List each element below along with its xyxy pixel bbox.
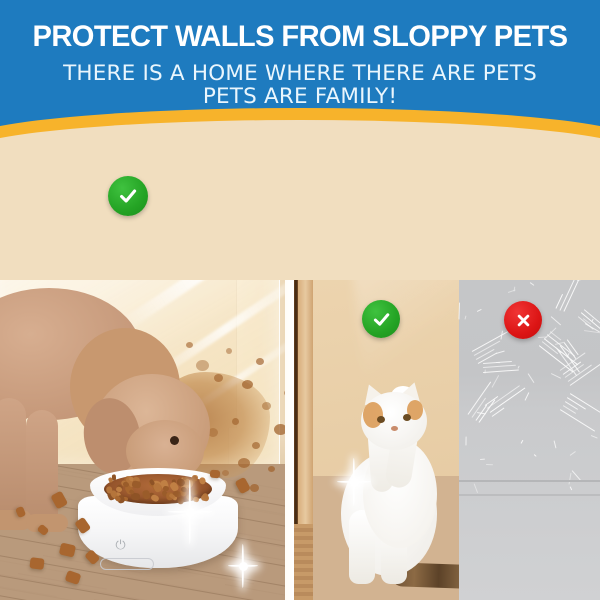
splatter-drop: [238, 458, 250, 468]
scratch-fleck: [474, 484, 479, 494]
kibble-piece: [162, 486, 168, 491]
kibble-piece: [177, 496, 184, 504]
grey-floor-line-2: [459, 494, 600, 496]
scratch-fleck: [525, 392, 530, 401]
bowl-front-slot: [100, 558, 154, 570]
status-badge-protected-right: [362, 300, 400, 338]
scratch-fleck: [500, 331, 503, 340]
splatter-drop: [226, 348, 232, 354]
splatter-drop: [214, 374, 223, 382]
kibble-piece: [190, 488, 198, 496]
scratch-fleck: [592, 318, 594, 321]
claw-scratch: [483, 369, 519, 373]
cat-illustration: [329, 378, 479, 588]
cat-marking-left: [363, 402, 383, 428]
scratch-fleck: [465, 315, 467, 320]
scratch-fleck: [551, 316, 562, 325]
kibble-piece: [107, 477, 113, 483]
claw-scratch: [560, 409, 595, 432]
power-icon: ⏻: [114, 538, 127, 551]
scratch-fleck: [521, 440, 524, 444]
cat-eye-right: [403, 414, 411, 421]
claw-scratch: [483, 365, 516, 369]
door-frame-base: [294, 524, 313, 600]
scratch-fleck: [496, 362, 500, 363]
splatter-drop: [268, 466, 275, 472]
splatter-drop: [262, 402, 271, 410]
scratch-fleck: [486, 464, 493, 465]
kibble-on-floor: [210, 470, 221, 479]
subtitle-line-1: THERE IS A HOME WHERE THERE ARE PETS: [63, 61, 537, 86]
scratch-fleck: [496, 350, 505, 354]
dog-leg-front-1: [0, 398, 26, 518]
scratch-fleck: [491, 375, 499, 388]
page-subtitle: THERE IS A HOME WHERE THERE ARE PETS PET…: [0, 62, 600, 108]
dog-leg-front-2: [26, 410, 58, 522]
scratch-fleck: [569, 486, 572, 490]
check-icon: [117, 185, 139, 207]
kibble-piece: [142, 489, 151, 499]
cat-eye-left: [377, 416, 385, 423]
scratch-fleck: [551, 373, 561, 379]
scratch-fleck: [591, 435, 598, 439]
scratch-fleck: [477, 309, 482, 312]
subtitle-line-2: PETS ARE FAMILY!: [0, 85, 600, 108]
yellow-band-inner-mask: [0, 120, 600, 280]
scratch-fleck: [569, 450, 575, 455]
status-badge-protected-left: [108, 176, 148, 216]
scratch-fleck: [480, 459, 485, 461]
cat-nose: [391, 426, 398, 431]
page-title: PROTECT WALLS FROM SLOPPY PETS: [9, 22, 591, 52]
dog-eye: [170, 436, 179, 445]
claw-scratch: [487, 385, 521, 409]
kibble-on-floor: [29, 557, 44, 570]
scratch-fleck: [553, 440, 556, 448]
grey-floor-line-1: [459, 480, 600, 482]
bowl-food-kibble: [104, 474, 212, 504]
cross-icon: [514, 311, 533, 330]
scratch-fleck: [530, 282, 535, 286]
scratch-fleck: [459, 303, 461, 320]
scratch-fleck: [465, 436, 466, 445]
splatter-drop: [252, 442, 260, 449]
kibble-piece: [150, 494, 159, 503]
poster-root: PROTECT WALLS FROM SLOPPY PETS THERE IS …: [0, 0, 600, 600]
scratch-fleck: [568, 473, 571, 485]
status-badge-damaged: [504, 301, 542, 339]
splatter-drop: [242, 380, 253, 389]
kibble-piece: [106, 486, 113, 494]
splatter-drop: [232, 418, 239, 425]
scratch-fleck: [517, 365, 519, 368]
scratch-fleck: [484, 370, 485, 374]
splatter-drop: [250, 484, 259, 492]
claw-scratch: [468, 382, 492, 416]
splatter-drop: [256, 358, 264, 365]
kibble-piece: [131, 480, 141, 489]
check-icon: [371, 309, 392, 330]
scratch-fleck: [527, 374, 534, 383]
scratch-fleck: [534, 454, 537, 457]
